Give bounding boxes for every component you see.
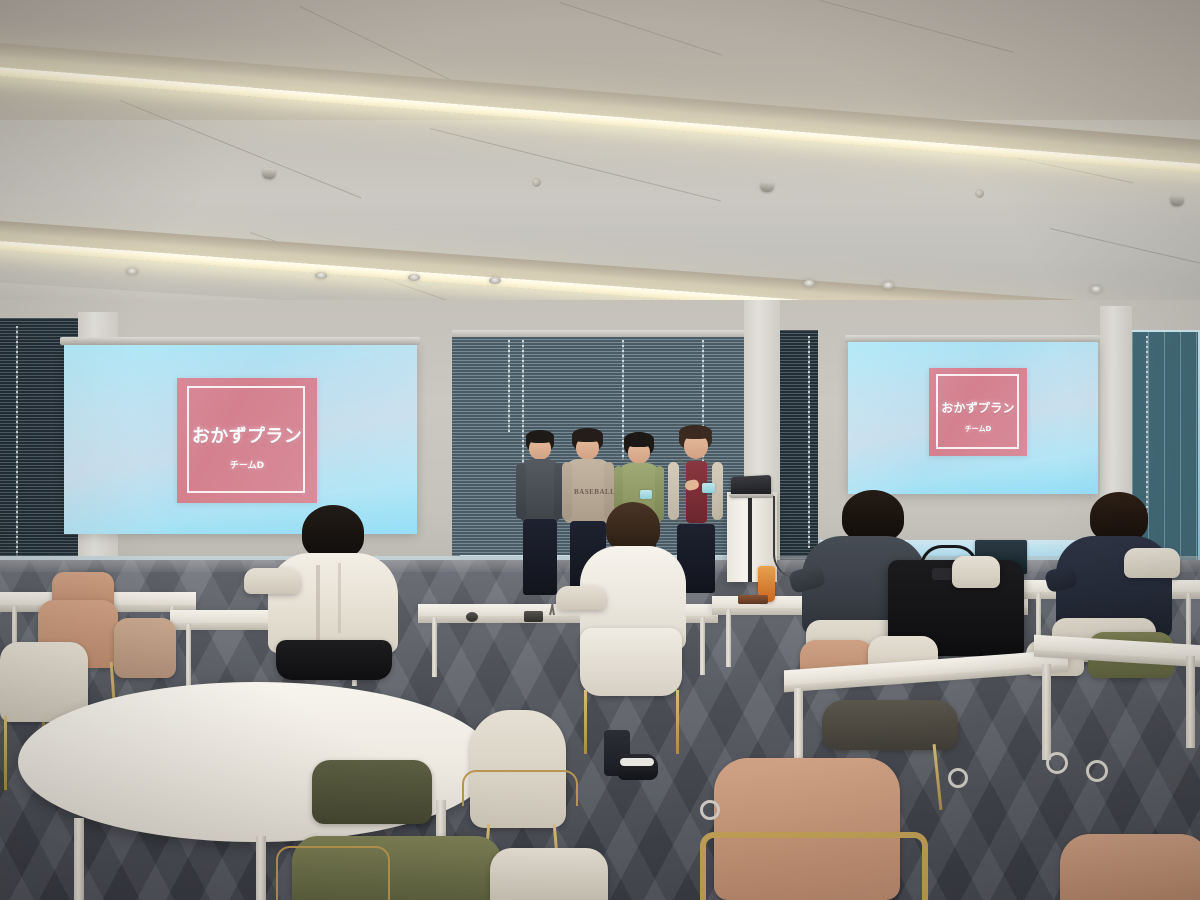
- chair-leg: [4, 716, 7, 790]
- hair: [606, 502, 660, 552]
- ceiling-speaker-icon: [262, 168, 277, 180]
- recessed-downlight-icon: [803, 280, 815, 287]
- snack-item: [738, 595, 768, 604]
- table-leg: [186, 624, 191, 686]
- table-leg: [1042, 664, 1051, 760]
- beige-chair[interactable]: [244, 568, 300, 594]
- blind-headrail: [452, 330, 747, 337]
- table-leg: [1186, 656, 1195, 748]
- suspended-ceiling: [0, 0, 1200, 330]
- name-badge: [640, 490, 652, 499]
- slide-title: おかずプラン: [929, 399, 1027, 416]
- fire-sprinkler-icon: [532, 178, 541, 187]
- fire-sprinkler-icon: [975, 189, 984, 198]
- recessed-downlight-icon: [882, 282, 894, 289]
- table-leg: [1186, 593, 1191, 647]
- shoe-sole: [620, 758, 654, 766]
- table-leg: [726, 609, 731, 667]
- hair: [842, 490, 904, 542]
- chair-leg: [676, 690, 679, 754]
- chair-armrest: [462, 770, 578, 806]
- hair-front: [572, 428, 603, 442]
- legs: [523, 519, 557, 595]
- lectern-stripe: [748, 492, 752, 582]
- recessed-downlight-icon: [315, 272, 327, 279]
- ceiling-speaker-icon: [1170, 195, 1185, 207]
- tan-chair[interactable]: [114, 618, 176, 678]
- recessed-downlight-icon: [126, 268, 138, 275]
- table-leg: [256, 836, 266, 900]
- chair-back: [276, 640, 392, 680]
- ceiling-speaker-icon: [760, 181, 775, 193]
- table-leg: [74, 818, 84, 900]
- photo-scene: おかずプラン チームD おかずプラン チームD: [0, 0, 1200, 900]
- beige-chair[interactable]: [952, 556, 1000, 588]
- table-caster: [948, 768, 968, 788]
- beige-chair[interactable]: [556, 586, 606, 610]
- beige-chair[interactable]: [490, 848, 608, 900]
- ceiling-wire: [1050, 228, 1200, 269]
- recessed-downlight-icon: [489, 277, 501, 284]
- blind-cord: [16, 326, 18, 556]
- slide-subtitle: チームD: [929, 424, 1027, 434]
- table-caster: [1086, 760, 1108, 782]
- slide-card: おかずプラン チームD: [177, 378, 317, 503]
- laptop-base: [729, 494, 774, 498]
- name-badge: [702, 483, 715, 493]
- slide-card: おかずプラン チームD: [929, 368, 1027, 456]
- chair-back: [580, 628, 682, 696]
- table-leg: [432, 617, 437, 677]
- table-caster: [700, 800, 720, 820]
- right-projection-screen: おかずプラン チームD: [848, 342, 1098, 494]
- slide-subtitle: チームD: [177, 458, 317, 471]
- ceiling-wire: [430, 128, 721, 202]
- chair-leg: [584, 690, 587, 754]
- olive-chair[interactable]: [312, 760, 432, 824]
- shirt-crease: [316, 565, 320, 641]
- table-caster: [1046, 752, 1068, 774]
- hair: [302, 505, 364, 559]
- hair: [1090, 492, 1148, 542]
- dark-chair[interactable]: [822, 700, 958, 750]
- shirt-crease: [338, 563, 341, 633]
- hair-front: [679, 425, 712, 439]
- tan-chair[interactable]: [1060, 834, 1200, 900]
- beige-chair[interactable]: [470, 710, 566, 828]
- hair-front: [526, 430, 554, 443]
- arm-left: [516, 463, 526, 519]
- small-black-box: [466, 612, 478, 622]
- recessed-downlight-icon: [408, 274, 420, 281]
- hair-front: [624, 432, 654, 447]
- chair-armrest: [276, 846, 390, 900]
- recessed-downlight-icon: [1090, 286, 1102, 293]
- left-screen-roller: [60, 337, 420, 345]
- blind-cord: [508, 340, 510, 432]
- presenter-1: [516, 430, 564, 595]
- right-screen-surface: おかずプラン チームD: [848, 342, 1098, 494]
- small-black-box: [524, 611, 543, 622]
- chair-armrest: [700, 832, 928, 900]
- table-leg: [700, 617, 705, 675]
- beige-chair[interactable]: [1124, 548, 1180, 578]
- slide-title: おかずプラン: [177, 422, 317, 448]
- laptop-cable: [773, 496, 797, 578]
- arm-left: [562, 462, 572, 520]
